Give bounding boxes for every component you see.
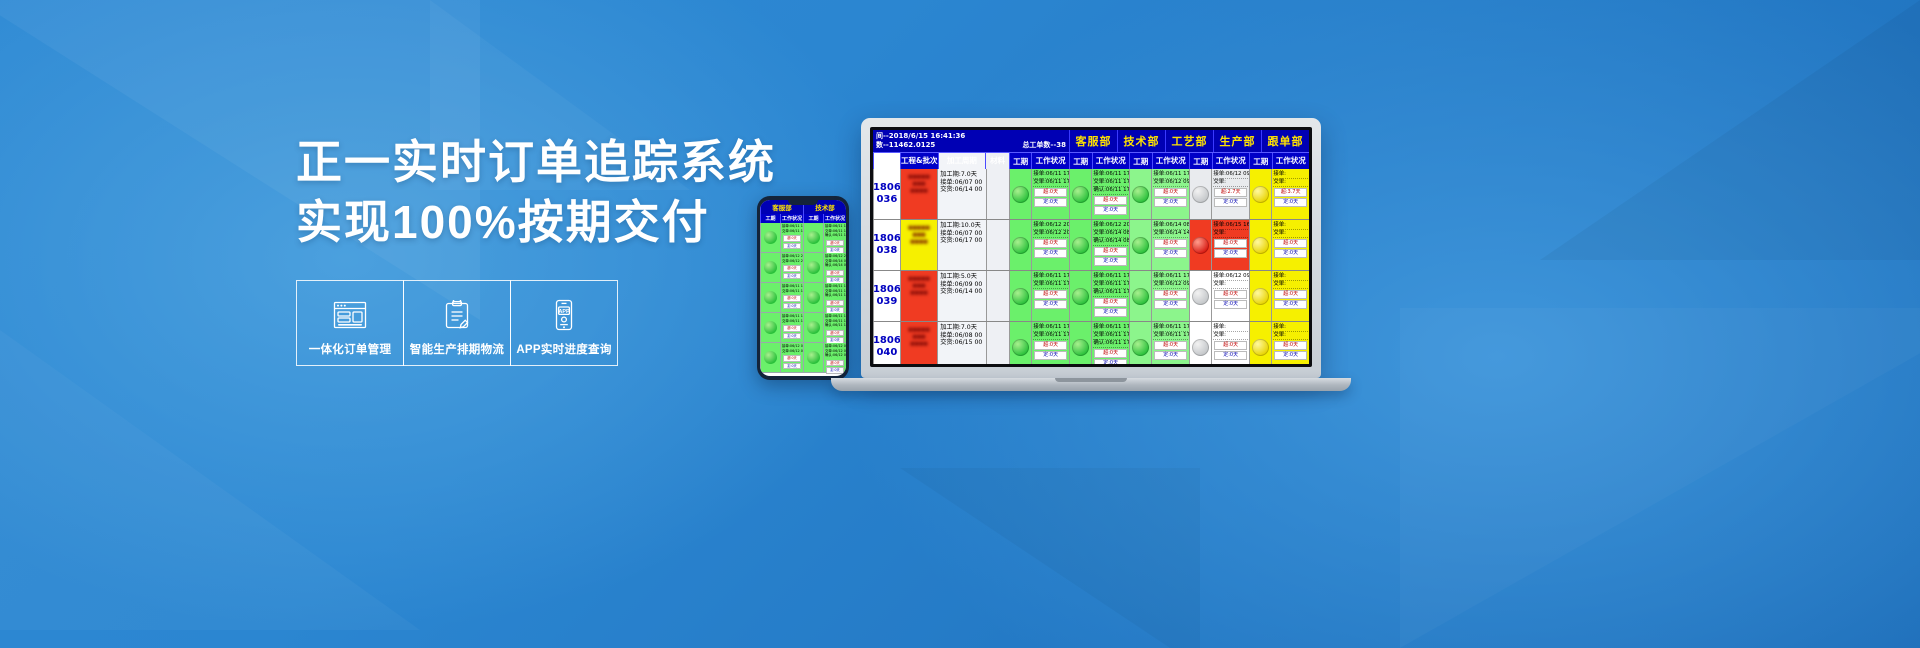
erp-col-work-order: 工单 (873, 153, 900, 169)
term-cell (1129, 271, 1151, 321)
material-cell (986, 220, 1009, 270)
erp-col-material: 材料 (985, 153, 1009, 169)
erp-total-orders: 总工单数--38 (1022, 141, 1066, 150)
status-indicator (807, 261, 820, 274)
work-status-cell: 接单:06/11 17交单:06/11 17确认:06/11 17超:0天定:0… (1091, 271, 1129, 321)
work-status-cell: 接单:06/11 17交单:06/11 17超:0天定:0天 (1151, 322, 1189, 364)
work-order-number: 1806039 (873, 271, 900, 321)
term-cell (1009, 169, 1031, 219)
phone-status-cell: 接单:06/11 17交单:06/11 17超:0天定:0天 (780, 313, 803, 342)
erp-col-status: 工作状况 (1152, 153, 1189, 169)
erp-topbar: 间--2018/6/15 16:41:36 数--11462.0125 总工单数… (873, 130, 1309, 152)
term-cell (1189, 169, 1211, 219)
term-cell (1129, 220, 1151, 270)
status-indicator (764, 351, 777, 364)
status-indicator (764, 291, 777, 304)
status-indicator (1132, 288, 1149, 305)
erp-col-status: 工作状况 (1272, 153, 1309, 169)
erp-code: 数--11462.0125 (876, 141, 935, 150)
processing-cycle-cell: 加工期:7.0天接单:06/08 00交货:06/15 00 (937, 322, 986, 364)
erp-col-term: 工期 (1129, 153, 1152, 169)
term-cell (1129, 169, 1151, 219)
work-order-number: 1806038 (873, 220, 900, 270)
phone-term-cell (803, 223, 823, 252)
processing-cycle-cell: 加工期:10.0天接单:06/07 00交货:06/17 00 (937, 220, 986, 270)
term-cell (1189, 322, 1211, 364)
work-status-cell: 接单:交单:超:3.7天定:0天 (1271, 169, 1309, 219)
phone-term-cell (803, 313, 823, 342)
status-indicator (1192, 339, 1209, 356)
phone-status-cell: 接单:06/11 17交单:06/11 17确认:06/11 17超:0天定:0… (823, 223, 846, 252)
term-cell (1249, 220, 1271, 270)
phone-status-cell: 接单:06/11 17交单:06/11 17确认:06/11 17超:0天定:0… (823, 283, 846, 312)
erp-col-status: 工作状况 (1212, 153, 1249, 169)
list-item[interactable]: 接单:06/11 17交单:06/11 17超:0天定:0天接单:06/11 1… (760, 283, 846, 313)
work-status-cell: 接单:06/12 20交单:06/12 20超:0天定:0天 (1031, 220, 1069, 270)
list-item[interactable]: 接单:06/12 20交单:06/12 20超:0天定:0天接单:06/12 2… (760, 253, 846, 283)
work-status-cell: 接单:06/11 17交单:06/12 09超:0天定:0天 (1151, 271, 1189, 321)
status-indicator (807, 321, 820, 334)
status-indicator (1012, 288, 1029, 305)
term-cell (1009, 271, 1031, 321)
feature-label: 智能生产排期物流 (410, 341, 504, 357)
term-cell (1189, 271, 1211, 321)
status-indicator (1012, 339, 1029, 356)
material-cell (986, 271, 1009, 321)
status-indicator (807, 291, 820, 304)
feature-order-management[interactable]: 一体化订单管理 (296, 280, 404, 366)
phone-term-cell (760, 283, 780, 312)
status-indicator (764, 321, 777, 334)
work-status-cell: 接单:交单:超:0天定:0天 (1271, 220, 1309, 270)
phone-screen[interactable]: 客服部 技术部 工期 工作状况 工期 工作状况 接单:06/11 17交单:06… (760, 200, 846, 376)
phone-col-term: 工期 (760, 214, 780, 223)
work-status-cell: 接单:06/11 17交单:06/11 17确认:06/11 17超:0天定:0… (1091, 169, 1129, 219)
table-row[interactable]: 1806040●●●●●●●●●●●●加工期:7.0天接单:06/08 00交货… (873, 322, 1309, 364)
status-indicator (1132, 339, 1149, 356)
work-status-cell: 接单:交单:超:0天定:0天 (1271, 271, 1309, 321)
table-row[interactable]: 1806038●●●●●●●●●●●●加工期:10.0天接单:06/07 00交… (873, 220, 1309, 271)
status-indicator (1072, 288, 1089, 305)
status-indicator (1012, 237, 1029, 254)
feature-label: APP实时进度查询 (516, 341, 611, 357)
term-cell (1249, 271, 1271, 321)
erp-col-term: 工期 (1249, 153, 1272, 169)
status-indicator (1072, 339, 1089, 356)
laptop-device: 间--2018/6/15 16:41:36 数--11462.0125 总工单数… (861, 118, 1321, 391)
term-cell (1069, 169, 1091, 219)
laptop-base (831, 378, 1351, 391)
erp-col-term: 工期 (1009, 153, 1032, 169)
project-batch-cell: ●●●●●●●●●●●● (900, 271, 937, 321)
erp-timestamp: 间--2018/6/15 16:41:36 (876, 132, 1066, 141)
term-cell (1009, 220, 1031, 270)
work-status-cell: 接单:06/12 09交单:超:0天定:0天 (1211, 271, 1249, 321)
work-status-cell: 接单:06/11 17交单:06/11 17确认:06/11 17超:0天定:0… (1091, 322, 1129, 364)
dashboard-window-icon (333, 295, 367, 335)
erp-dept-production: 生产部 (1213, 130, 1261, 152)
status-indicator (1012, 186, 1029, 203)
erp-col-status: 工作状况 (1092, 153, 1129, 169)
status-indicator (1132, 186, 1149, 203)
phone-status-cell: 接单:06/12 09交单:06/12 09超:0天定:0天 (780, 343, 803, 372)
phone-col-term: 工期 (803, 214, 823, 223)
work-status-cell: 接单:06/15 16交单:超:0天定:0天 (1211, 220, 1249, 270)
erp-dept-technical: 技术部 (1117, 130, 1165, 152)
work-order-number: 1806036 (873, 169, 900, 219)
phone-term-cell (760, 223, 780, 252)
svg-text:APP: APP (558, 309, 569, 315)
erp-dept-process: 工艺部 (1165, 130, 1213, 152)
work-status-cell: 接单:交单:超:0天定:0天 (1271, 322, 1309, 364)
list-item[interactable]: 接单:06/12 09交单:06/12 09超:0天定:0天接单:06/12 0… (760, 343, 846, 373)
phone-status-cell: 接单:06/11 17交单:06/11 17超:0天定:0天 (780, 223, 803, 252)
phone-col-status: 工作状况 (823, 214, 846, 223)
erp-dashboard: 间--2018/6/15 16:41:36 数--11462.0125 总工单数… (873, 130, 1309, 364)
status-indicator (764, 261, 777, 274)
work-status-cell: 接单:06/11 17交单:06/11 17超:0天定:0天 (1031, 271, 1069, 321)
status-indicator (1252, 237, 1269, 254)
clipboard-checklist-icon (443, 295, 471, 335)
phone-term-cell (803, 343, 823, 372)
term-cell (1129, 322, 1151, 364)
work-status-cell: 接单:交单:超:0天定:0天 (1211, 322, 1249, 364)
status-indicator (1192, 237, 1209, 254)
project-batch-cell: ●●●●●●●●●●●● (900, 220, 937, 270)
erp-col-cycle: 加工周期 (938, 153, 986, 169)
status-indicator (764, 231, 777, 244)
feature-smart-scheduling[interactable]: 智能生产排期物流 (403, 280, 511, 366)
phone-column-header: 工期 工作状况 工期 工作状况 (760, 214, 846, 223)
mobile-app-icon: APP (552, 295, 576, 335)
status-indicator (1132, 237, 1149, 254)
term-cell (1069, 271, 1091, 321)
headline-line-1: 正一实时订单追踪系统 (296, 136, 776, 188)
feature-app-progress-query[interactable]: APP APP实时进度查询 (510, 280, 618, 366)
term-cell (1189, 220, 1211, 270)
phone-status-cell: 接单:06/12 20交单:06/12 20超:0天定:0天 (780, 253, 803, 282)
erp-topbar-info: 间--2018/6/15 16:41:36 数--11462.0125 总工单数… (873, 130, 1069, 152)
work-status-cell: 接单:06/11 17交单:06/12 09超:0天定:0天 (1151, 169, 1189, 219)
laptop-bezel: 间--2018/6/15 16:41:36 数--11462.0125 总工单数… (870, 127, 1312, 367)
promo-banner: 正一实时订单追踪系统 实现100%按期交付 (0, 0, 1920, 648)
work-order-number: 1806040 (873, 322, 900, 364)
term-cell (1069, 220, 1091, 270)
list-item[interactable]: 接单:06/11 17交单:06/11 17超:0天定:0天接单:06/11 1… (760, 223, 846, 253)
term-cell (1009, 322, 1031, 364)
feature-label: 一体化订单管理 (309, 341, 392, 357)
status-indicator (1192, 288, 1209, 305)
phone-status-cell: 接单:06/11 17交单:06/11 17超:0天定:0天 (780, 283, 803, 312)
processing-cycle-cell: 加工期:5.0天接单:06/09 00交货:06/14 00 (937, 271, 986, 321)
erp-col-term: 工期 (1069, 153, 1092, 169)
phone-status-cell: 接单:06/12 09交单:06/12 09确认:06/12 09超:0天定:0… (823, 343, 846, 372)
status-indicator (1192, 186, 1209, 203)
status-indicator (807, 351, 820, 364)
status-indicator (1252, 186, 1269, 203)
erp-col-project-batch: 工程&批次 (900, 153, 938, 169)
term-cell (1069, 322, 1091, 364)
project-batch-cell: ●●●●●●●●●●●● (900, 169, 937, 219)
phone-col-status: 工作状况 (780, 214, 803, 223)
status-indicator (1252, 288, 1269, 305)
phone-term-cell (803, 253, 823, 282)
laptop-base-notch (1055, 378, 1127, 382)
status-indicator (1072, 237, 1089, 254)
phone-notch (788, 200, 818, 205)
phone-row-container: 接单:06/11 17交单:06/11 17超:0天定:0天接单:06/11 1… (760, 223, 846, 373)
work-status-cell: 接单:06/11 17交单:06/11 17超:0天定:0天 (1031, 322, 1069, 364)
erp-column-header: 工单 工程&批次 加工周期 材料 工期 工作状况 工期 工作状况 工期 工作状况… (873, 152, 1309, 169)
erp-row-container: 1806036●●●●●●●●●●●●加工期:7.0天接单:06/07 00交货… (873, 169, 1309, 364)
status-indicator (1072, 186, 1089, 203)
phone-status-cell: 接单:06/11 17交单:06/11 17确认:06/11 17超:0天定:0… (823, 313, 846, 342)
work-status-cell: 接单:06/12 20交单:06/14 08确认:06/14 08超:0天定:0… (1091, 220, 1129, 270)
work-status-cell: 接单:06/11 17交单:06/11 17超:0天定:0天 (1031, 169, 1069, 219)
project-batch-cell: ●●●●●●●●●●●● (900, 322, 937, 364)
laptop-screen[interactable]: 间--2018/6/15 16:41:36 数--11462.0125 总工单数… (873, 130, 1309, 364)
laptop-lid: 间--2018/6/15 16:41:36 数--11462.0125 总工单数… (861, 118, 1321, 378)
phone-term-cell (760, 313, 780, 342)
phone-erp-grid: 客服部 技术部 工期 工作状况 工期 工作状况 接单:06/11 17交单:06… (760, 200, 846, 373)
table-row[interactable]: 1806039●●●●●●●●●●●●加工期:5.0天接单:06/09 00交货… (873, 271, 1309, 322)
term-cell (1249, 169, 1271, 219)
phone-term-cell (803, 283, 823, 312)
status-indicator (807, 231, 820, 244)
list-item[interactable]: 接单:06/11 17交单:06/11 17超:0天定:0天接单:06/11 1… (760, 313, 846, 343)
term-cell (1249, 322, 1271, 364)
material-cell (986, 322, 1009, 364)
phone-term-cell (760, 253, 780, 282)
material-cell (986, 169, 1009, 219)
smartphone-device: 客服部 技术部 工期 工作状况 工期 工作状况 接单:06/11 17交单:06… (757, 196, 849, 380)
work-status-cell: 接单:06/14 08交单:06/14 14超:0天定:0天 (1151, 220, 1189, 270)
table-row[interactable]: 1806036●●●●●●●●●●●●加工期:7.0天接单:06/07 00交货… (873, 169, 1309, 220)
erp-dept-customer-service: 客服部 (1069, 130, 1117, 152)
erp-dept-merchandising: 跟单部 (1261, 130, 1309, 152)
processing-cycle-cell: 加工期:7.0天接单:06/07 00交货:06/14 00 (937, 169, 986, 219)
work-status-cell: 接单:06/12 09交单:超:2.7天定:0天 (1211, 169, 1249, 219)
erp-col-status: 工作状况 (1031, 153, 1068, 169)
erp-col-term: 工期 (1189, 153, 1212, 169)
phone-term-cell (760, 343, 780, 372)
phone-status-cell: 接单:06/12 20交单:06/14 08确认:06/14 08超:0天定:0… (823, 253, 846, 282)
status-indicator (1252, 339, 1269, 356)
